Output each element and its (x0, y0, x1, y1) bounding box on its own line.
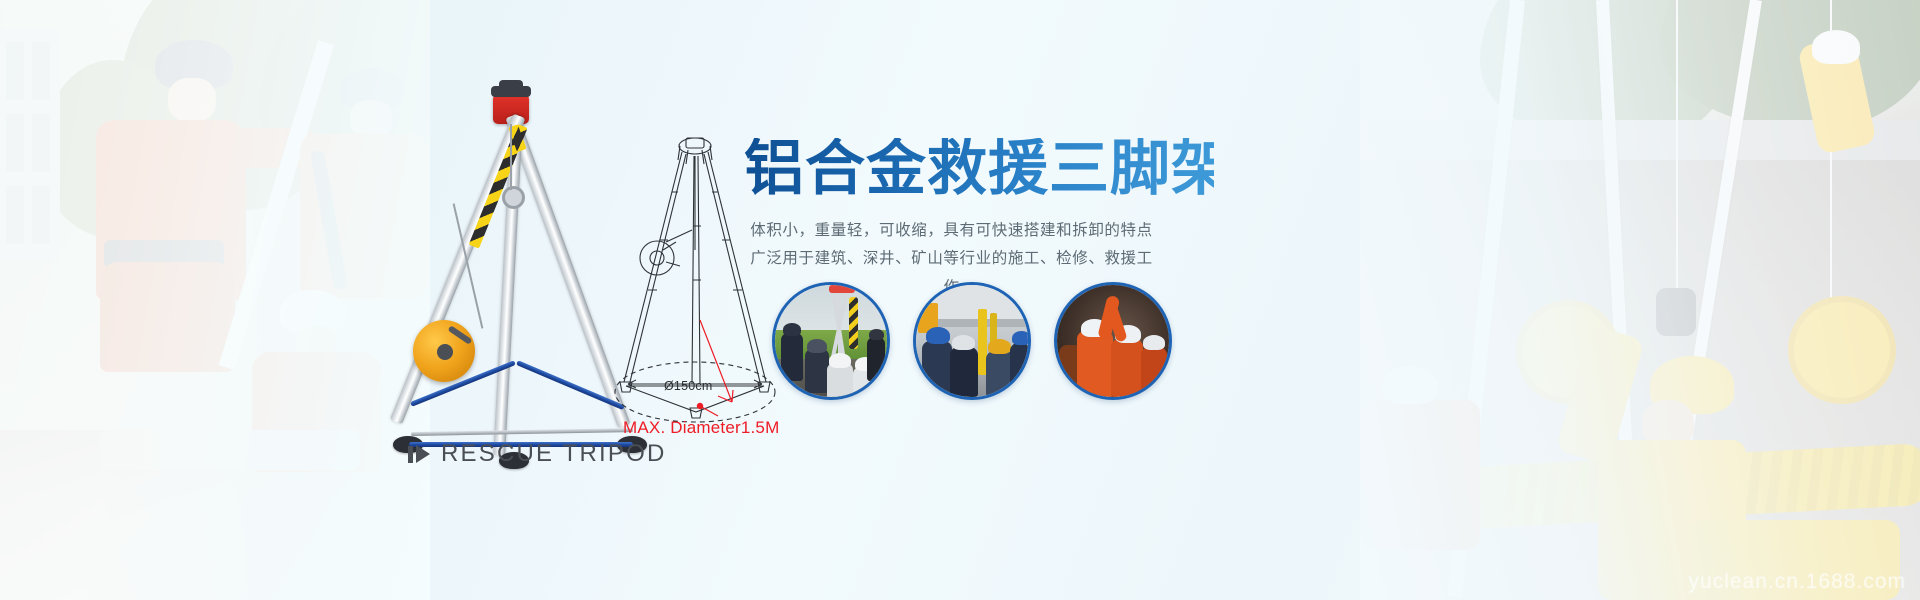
page-title: 铝合金救援三脚架 (744, 138, 1214, 202)
product-caption: RESCUE TRIPOD (408, 440, 667, 468)
banner-text-block: 铝合金救援三脚架 体积小，重量轻，可收缩，具有可快速搭建和拆卸的特点 广泛用于建… (744, 138, 1214, 302)
thumbnail-confined-space-rescue[interactable] (1054, 282, 1172, 400)
diameter-dimension-label: Ø150cm (664, 379, 712, 393)
thumbnail-field-training[interactable] (772, 282, 890, 400)
site-watermark: yuclean.cn.1688.com (1689, 570, 1906, 594)
subtitle-line-1: 体积小，重量轻，可收缩，具有可快速搭建和拆卸的特点 (744, 216, 1159, 245)
thumbnail-row (772, 282, 1172, 400)
play-marker-icon (408, 445, 430, 463)
thumbnail-workshop-inspection[interactable] (913, 282, 1031, 400)
right-rescue-photo (1360, 0, 1920, 600)
product-caption-label: RESCUE TRIPOD (441, 440, 667, 468)
max-diameter-note: MAX. Diameter1.5M (623, 418, 779, 438)
product-banner: Ø150cm MAX. Diameter1.5M RESCUE TRIPOD 铝… (0, 0, 1920, 600)
left-rescue-photo (0, 0, 430, 600)
